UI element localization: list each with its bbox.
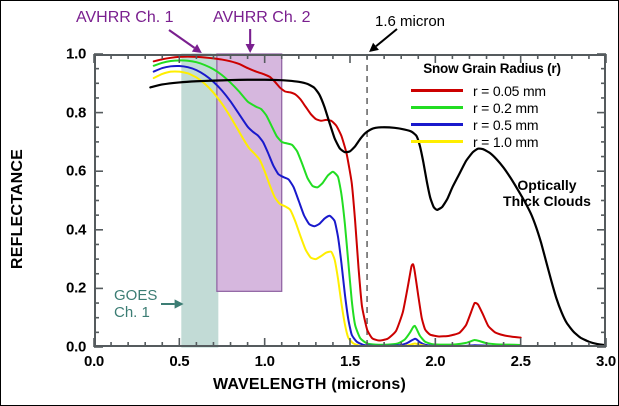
legend: Snow Grain Radius (r) r = 0.05 mmr = 0.2…: [397, 61, 587, 150]
legend-swatch-line: [411, 140, 463, 143]
y-tick-label: 0.4: [46, 221, 86, 238]
x-axis-title: WAVELENGTH (microns): [1, 376, 618, 394]
legend-entry-1: r = 0.2 mm: [397, 99, 587, 116]
y-tick-label: 0.8: [46, 104, 86, 121]
y-tick-label: 0.6: [46, 163, 86, 180]
annotation-avhrr-ch2: AVHRR Ch. 2: [213, 9, 311, 27]
legend-label: r = 0.5 mm: [473, 117, 538, 133]
legend-swatch-line: [411, 106, 463, 109]
legend-label: r = 0.05 mm: [473, 83, 546, 99]
x-tick-label: 0.5: [169, 353, 189, 370]
legend-rows: r = 0.05 mmr = 0.2 mmr = 0.5 mmr = 1.0 m…: [397, 82, 587, 150]
annotation-optically-thick-clouds: Optically Thick Clouds: [501, 177, 593, 209]
legend-entry-3: r = 1.0 mm: [397, 133, 587, 150]
figure-canvas: WAVELENGTH (microns) REFLECTANCE 0.00.51…: [0, 0, 619, 406]
y-tick-label: 0.0: [46, 339, 86, 356]
x-tick-label: 1.0: [255, 353, 275, 370]
legend-label: r = 1.0 mm: [473, 134, 538, 150]
legend-swatch-line: [411, 123, 463, 126]
x-tick-label: 0.0: [84, 353, 104, 370]
arrow-avhrr-ch1-head: [192, 44, 202, 53]
arrow-avhrr-ch1-shaft: [169, 30, 194, 48]
y-tick-label: 1.0: [46, 46, 86, 63]
y-tick-label: 0.2: [46, 280, 86, 297]
legend-swatch-line: [411, 89, 463, 92]
annotation-goes-ch1-line2: Ch. 1: [114, 304, 157, 321]
x-tick-label: 3.0: [596, 353, 616, 370]
arrow-avhrr-ch2-head: [246, 44, 255, 53]
annotation-goes-ch1-line1: GOES: [114, 287, 157, 304]
x-tick-label: 2.5: [511, 353, 531, 370]
x-tick-label: 1.5: [340, 353, 360, 370]
annotation-1.6-micron: 1.6 micron: [375, 13, 445, 30]
annotation-avhrr-ch1: AVHRR Ch. 1: [76, 9, 174, 27]
arrow-1.6-micron-shaft: [376, 29, 397, 46]
y-axis-title: REFLECTANCE: [9, 129, 27, 289]
legend-title: Snow Grain Radius (r): [397, 61, 587, 76]
legend-entry-2: r = 0.5 mm: [397, 116, 587, 133]
annotation-goes-ch1: GOES Ch. 1: [114, 287, 157, 321]
legend-label: r = 0.2 mm: [473, 100, 538, 116]
legend-entry-0: r = 0.05 mm: [397, 82, 587, 99]
x-tick-label: 2.0: [425, 353, 445, 370]
